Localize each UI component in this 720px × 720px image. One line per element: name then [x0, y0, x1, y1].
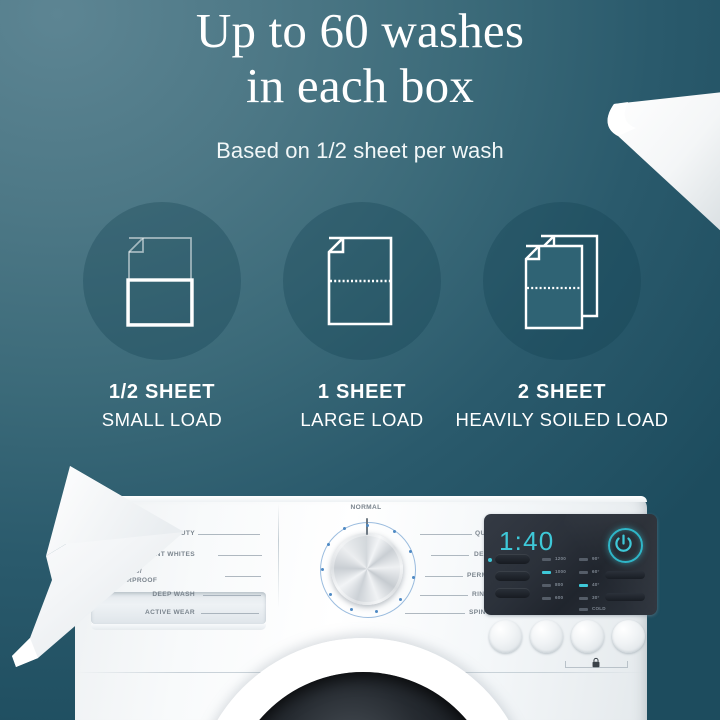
option-text: 600 [555, 595, 563, 600]
control-button-3[interactable] [571, 620, 604, 653]
option-text: 40° [592, 582, 600, 587]
usage-title: 1/2 SHEET [52, 380, 272, 405]
program-dial[interactable] [331, 533, 403, 605]
dial-label-normal[interactable]: NORMAL [350, 504, 381, 513]
dial-dot [327, 543, 330, 546]
option-indicator [579, 597, 588, 600]
headline-line-1: Up to 60 washes [196, 3, 524, 58]
dial-dot [321, 568, 324, 571]
usage-label-one-sheet: 1 SHEET LARGE LOAD [252, 380, 472, 431]
option-text: 1000 [555, 569, 566, 574]
display-button-right[interactable] [605, 593, 645, 601]
remaining-time-readout: 1:40 [499, 526, 554, 557]
child-lock-indicator [565, 658, 628, 668]
option-text: 90° [592, 556, 600, 561]
display-button[interactable] [495, 588, 530, 598]
usage-label-row: 1/2 SHEET SMALL LOAD 1 SHEET LARGE LOAD … [0, 380, 720, 470]
usage-subtitle: LARGE LOAD [252, 408, 472, 431]
usage-title: 1 SHEET [252, 380, 472, 405]
dial-tick [425, 576, 463, 577]
dial-tick [420, 534, 472, 535]
dial-dot [399, 598, 402, 601]
control-button-4[interactable] [612, 620, 645, 653]
usage-label-two-sheet: 2 SHEET HEAVILY SOILED LOAD [452, 380, 672, 431]
dial-dot [393, 530, 396, 533]
usage-option-half-sheet [62, 202, 262, 362]
option-indicator [542, 597, 551, 600]
floating-sheet-top-right-decoration [584, 92, 720, 242]
option-indicator [579, 608, 588, 611]
usage-option-one-sheet [262, 202, 462, 362]
one-sheet-icon [283, 202, 441, 360]
option-indicator-active [542, 571, 551, 574]
dial-dot [343, 527, 346, 530]
dial-dot [366, 524, 369, 527]
display-button[interactable] [495, 554, 530, 564]
half-sheet-icon [83, 202, 241, 360]
usage-subtitle: HEAVILY SOILED LOAD [452, 408, 672, 431]
lock-underline-end [565, 661, 566, 668]
dial-tick [405, 613, 465, 614]
power-icon[interactable] [608, 528, 643, 563]
child-lock-icon [591, 657, 601, 668]
option-text: 800 [555, 582, 563, 587]
option-indicator [579, 558, 588, 561]
option-text: 30° [592, 595, 600, 600]
usage-title: 2 SHEET [452, 380, 672, 405]
floating-sheet-bottom-left-decoration [8, 460, 238, 690]
dial-label-spin[interactable]: SPIN [469, 609, 486, 618]
option-indicator-active [579, 584, 588, 587]
control-display-panel[interactable]: 1:40 1200 1000 800 600 [484, 514, 657, 615]
usage-label-half-sheet: 1/2 SHEET SMALL LOAD [52, 380, 272, 431]
control-button-2[interactable] [530, 620, 563, 653]
usage-subtitle: SMALL LOAD [52, 408, 272, 431]
option-indicator [542, 584, 551, 587]
panel-divider [278, 504, 279, 608]
lock-underline-end [627, 661, 628, 668]
dial-dot [412, 576, 415, 579]
dial-tick [431, 555, 469, 556]
option-text: 1200 [555, 556, 566, 561]
option-indicator [579, 571, 588, 574]
option-text: COLD [592, 606, 606, 611]
infographic-canvas: Up to 60 washes in each box Based on 1/2… [0, 0, 720, 720]
display-button[interactable] [495, 571, 530, 581]
program-led [488, 558, 492, 562]
dial-dot [409, 550, 412, 553]
option-indicator [542, 558, 551, 561]
display-button-right[interactable] [605, 571, 645, 579]
option-text: 60° [592, 569, 600, 574]
dial-dot [375, 610, 378, 613]
control-button-1[interactable] [489, 620, 522, 653]
dial-dot [329, 593, 332, 596]
dial-dot [350, 608, 353, 611]
dial-tick [420, 595, 468, 596]
